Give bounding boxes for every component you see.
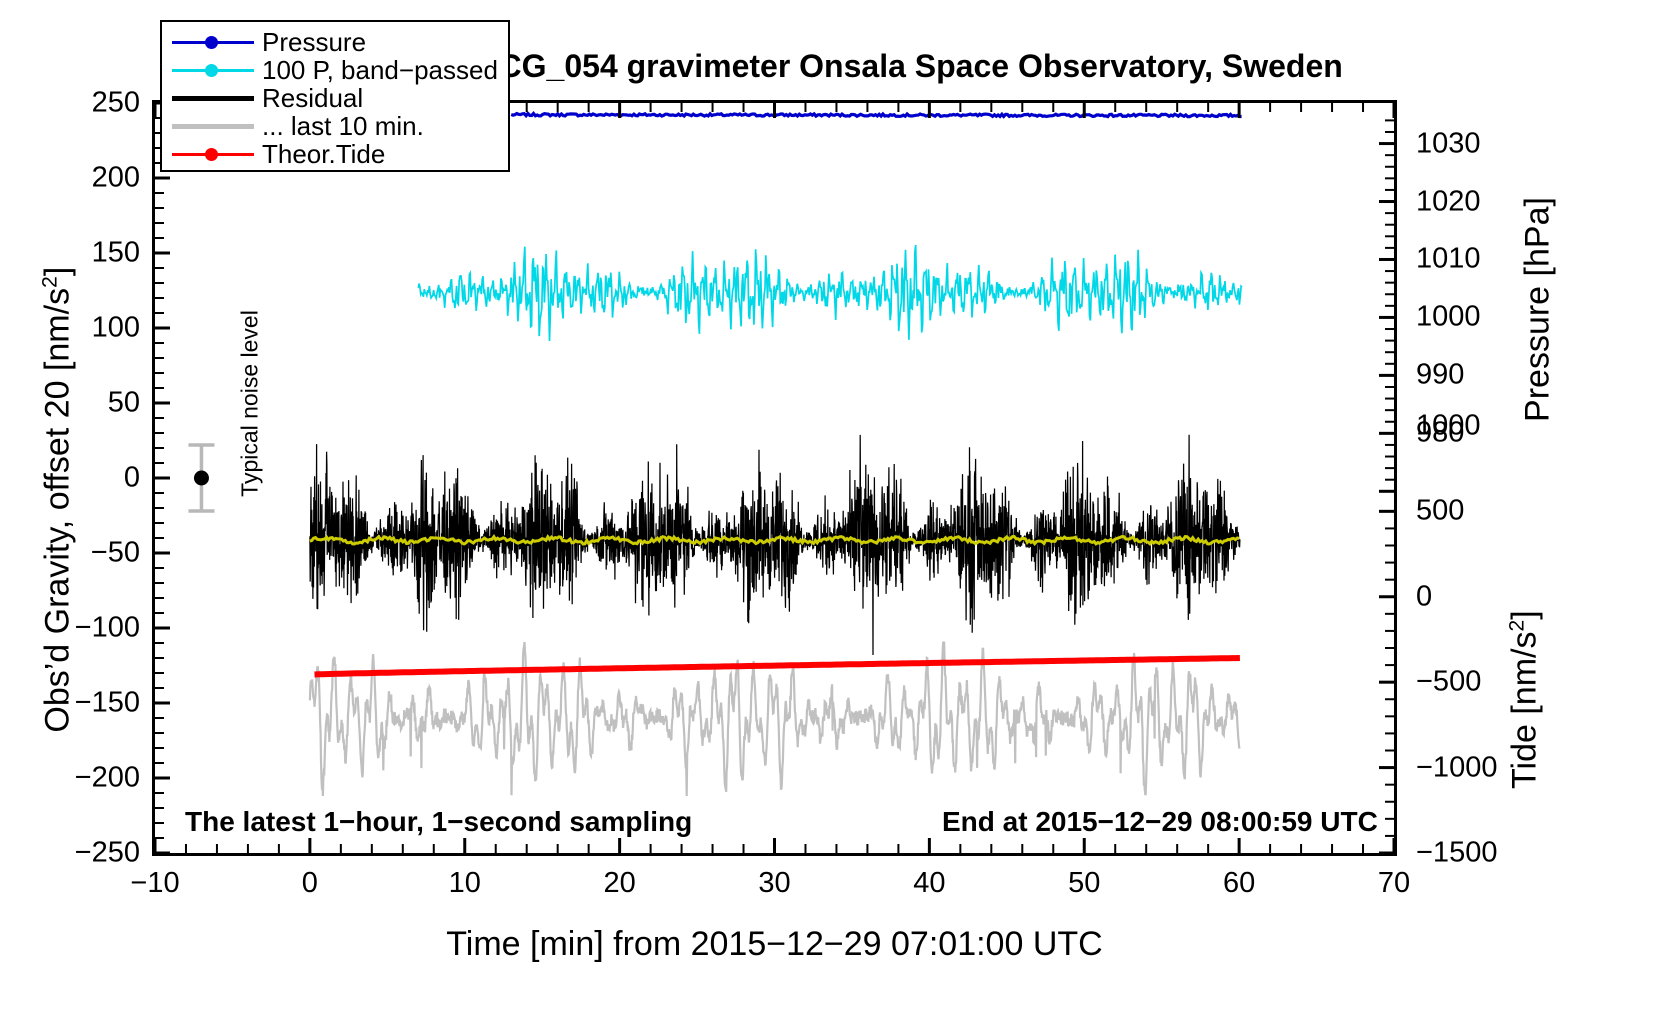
legend-swatch-icon	[172, 28, 254, 56]
pressure-tick-label: 1010	[1416, 245, 1481, 274]
x-tick-label: 30	[758, 869, 790, 898]
x-tick-label: 10	[449, 869, 481, 898]
legend-item: 100 P, band−passed	[172, 56, 508, 84]
legend-item: ... last 10 min.	[172, 112, 508, 140]
legend-item: Residual	[172, 84, 508, 112]
y-tick-label: 200	[5, 164, 140, 193]
y-tick-label: 50	[5, 389, 140, 418]
pressure-tick-label: 1000	[1416, 303, 1481, 332]
noise-level-label: Typical noise level	[237, 279, 264, 529]
y-tick-label: 0	[5, 464, 140, 493]
tide-tick-label: 1000	[1416, 411, 1481, 440]
legend-item-label: Theor.Tide	[262, 139, 385, 170]
x-tick-label: 0	[302, 869, 318, 898]
y-tick-label: 150	[5, 239, 140, 268]
x-tick-label: 40	[913, 869, 945, 898]
y-tick-label: −250	[5, 839, 140, 868]
legend-swatch-icon	[172, 140, 254, 168]
x-tick-label: 60	[1223, 869, 1255, 898]
pressure-tick-label: 990	[1416, 361, 1464, 390]
legend-swatch-icon	[172, 112, 254, 140]
tide-tick-label: 0	[1416, 582, 1432, 611]
legend-item-label: Pressure	[262, 27, 366, 58]
legend-item-label: 100 P, band−passed	[262, 55, 498, 86]
x-tick-label: 70	[1378, 869, 1410, 898]
y-tick-label: −100	[5, 614, 140, 643]
y-tick-label: −50	[5, 539, 140, 568]
tide-tick-label: −500	[1416, 668, 1481, 697]
pressure-tick-label: 1020	[1416, 187, 1481, 216]
legend-item: Theor.Tide	[172, 140, 508, 168]
gravimeter-plot-page: SCG_054 gravimeter Onsala Space Observat…	[0, 0, 1660, 1020]
legend-swatch-icon	[172, 84, 254, 112]
y-tick-label: 100	[5, 314, 140, 343]
y-tick-label: 250	[5, 89, 140, 118]
legend-item: Pressure	[172, 28, 508, 56]
tide-tick-label: 500	[1416, 497, 1464, 526]
legend-item-label: ... last 10 min.	[262, 111, 424, 142]
y-tick-label: −200	[5, 764, 140, 793]
legend: Pressure100 P, band−passedResidual... la…	[160, 20, 510, 172]
legend-item-label: Residual	[262, 83, 363, 114]
x-tick-label: 20	[603, 869, 635, 898]
sampling-note: The latest 1−hour, 1−second sampling	[185, 806, 692, 838]
end-time-note: End at 2015−12−29 08:00:59 UTC	[942, 806, 1378, 838]
x-tick-label: −10	[130, 869, 179, 898]
tide-tick-label: −1500	[1416, 839, 1497, 868]
legend-swatch-icon	[172, 56, 254, 84]
tide-tick-label: −1000	[1416, 753, 1497, 782]
y-tick-label: −150	[5, 689, 140, 718]
pressure-tick-label: 1030	[1416, 129, 1481, 158]
x-tick-label: 50	[1068, 869, 1100, 898]
